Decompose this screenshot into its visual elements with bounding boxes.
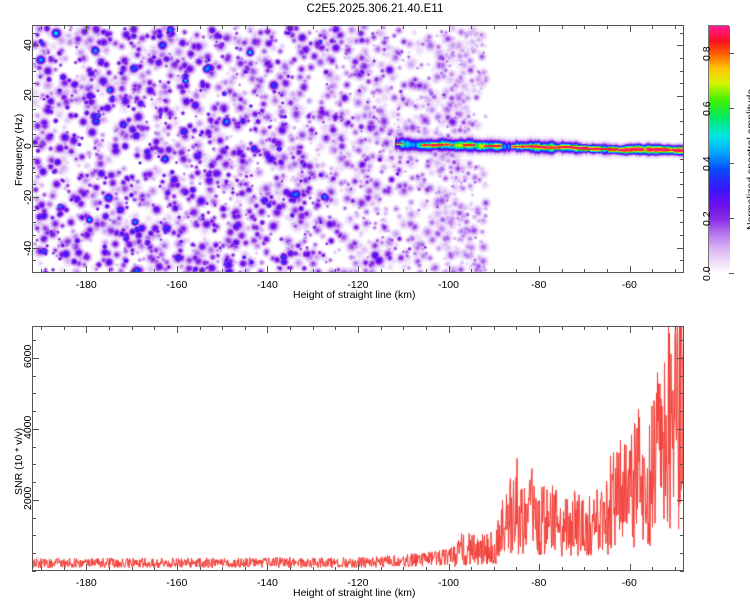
xtick-minor-top (245, 25, 246, 29)
ytick-minor (32, 571, 36, 572)
xtick-label: -140 (257, 577, 278, 589)
snr-canvas (33, 327, 684, 571)
xtick-minor (471, 269, 472, 273)
xtick-label: -160 (166, 279, 187, 291)
xtick-major-top (267, 326, 268, 333)
ytick-minor (32, 411, 36, 412)
ytick-minor-right (680, 411, 684, 412)
colorbar-tick-label: 0.4 (701, 156, 713, 171)
xtick-minor (313, 567, 314, 571)
xtick-minor (426, 567, 427, 571)
ytick-major-right (677, 45, 684, 46)
xtick-minor (222, 269, 223, 273)
xtick-minor (584, 567, 585, 571)
xtick-minor-top (426, 326, 427, 330)
xtick-minor (652, 567, 653, 571)
xtick-minor (132, 567, 133, 571)
colorbar (708, 25, 729, 273)
colorbar-gradient (709, 26, 730, 274)
xtick-major-top (267, 25, 268, 32)
xtick-major (177, 564, 178, 571)
xtick-minor-top (381, 25, 382, 29)
colorbar-tick (729, 273, 734, 274)
ytick-minor (32, 222, 36, 223)
ytick-major-right (677, 429, 684, 430)
ytick-minor (32, 109, 36, 110)
figure-title: C2E5.2025.306.21.40.E11 (0, 3, 750, 15)
colorbar-tick (729, 218, 734, 219)
snr-xlabel: Height of straight line (km) (293, 587, 416, 599)
xtick-minor-top (64, 326, 65, 330)
ytick-minor-right (680, 172, 684, 173)
xtick-minor (562, 567, 563, 571)
ytick-label: 20 (22, 89, 34, 101)
xtick-major (267, 564, 268, 571)
xtick-minor (290, 269, 291, 273)
ytick-minor (32, 121, 36, 122)
ytick-minor (32, 159, 36, 160)
xtick-minor-top (154, 25, 155, 29)
ytick-minor (32, 172, 36, 173)
xtick-major-top (86, 326, 87, 333)
spectrogram-xlabel: Height of straight line (km) (293, 289, 416, 301)
xtick-minor (132, 269, 133, 273)
xtick-major-top (86, 25, 87, 32)
ytick-label: 40 (22, 39, 34, 51)
xtick-minor (516, 567, 517, 571)
spectrogram-panel (32, 25, 684, 273)
ytick-major-right (677, 146, 684, 147)
xtick-minor-top (675, 25, 676, 29)
xtick-minor (335, 269, 336, 273)
ytick-minor-right (680, 210, 684, 211)
xtick-minor (562, 269, 563, 273)
ytick-minor-right (680, 571, 684, 572)
xtick-minor-top (403, 326, 404, 330)
ytick-minor-right (680, 33, 684, 34)
figure-root: C2E5.2025.306.21.40.E11 -180-160-140-120… (0, 0, 750, 600)
colorbar-tick (729, 108, 734, 109)
xtick-minor (64, 567, 65, 571)
ytick-minor (32, 71, 36, 72)
xtick-minor-top (335, 326, 336, 330)
xtick-minor (675, 567, 676, 571)
ytick-minor (32, 184, 36, 185)
colorbar-tick-label: 0.8 (701, 46, 713, 61)
xtick-minor (335, 567, 336, 571)
xtick-major (267, 266, 268, 273)
xtick-minor-top (516, 326, 517, 330)
xtick-major (630, 266, 631, 273)
xtick-label: -180 (76, 279, 97, 291)
xtick-minor-top (652, 25, 653, 29)
xtick-major-top (539, 326, 540, 333)
xtick-minor-top (494, 25, 495, 29)
xtick-minor (154, 269, 155, 273)
ytick-minor (32, 260, 36, 261)
xtick-minor-top (200, 25, 201, 29)
xtick-minor (471, 567, 472, 571)
xtick-minor (403, 567, 404, 571)
xtick-minor (200, 269, 201, 273)
xtick-minor-top (41, 326, 42, 330)
ytick-minor (32, 33, 36, 34)
xtick-minor-top (426, 25, 427, 29)
ytick-minor (32, 210, 36, 211)
ytick-minor (32, 58, 36, 59)
xtick-major (358, 564, 359, 571)
xtick-major-top (358, 25, 359, 32)
xtick-label: -100 (438, 577, 459, 589)
xtick-minor-top (132, 25, 133, 29)
xtick-major (539, 266, 540, 273)
spectrogram-ylabel: Frequency (Hz) (13, 114, 25, 186)
xtick-minor-top (335, 25, 336, 29)
ytick-minor (32, 134, 36, 135)
xtick-minor-top (607, 326, 608, 330)
xtick-major (449, 564, 450, 571)
ytick-minor-right (680, 447, 684, 448)
xtick-minor-top (245, 326, 246, 330)
ytick-minor-right (680, 134, 684, 135)
ytick-minor-right (680, 121, 684, 122)
xtick-minor-top (584, 25, 585, 29)
ytick-minor (32, 464, 36, 465)
xtick-minor (109, 567, 110, 571)
xtick-major (177, 266, 178, 273)
xtick-major (86, 564, 87, 571)
colorbar-tick-label: 0.0 (701, 266, 713, 281)
ytick-minor (32, 553, 36, 554)
xtick-major (539, 564, 540, 571)
xtick-label: -100 (438, 279, 459, 291)
xtick-minor-top (200, 326, 201, 330)
xtick-major-top (358, 326, 359, 333)
xtick-major (86, 266, 87, 273)
ytick-minor-right (680, 235, 684, 236)
ytick-label: -20 (22, 190, 34, 205)
xtick-minor-top (516, 25, 517, 29)
snr-ylabel: SNR (10 * v/v) (13, 428, 25, 495)
ytick-minor-right (680, 83, 684, 84)
xtick-minor-top (109, 25, 110, 29)
xtick-minor (290, 567, 291, 571)
xtick-major (449, 266, 450, 273)
ytick-minor (32, 235, 36, 236)
xtick-minor (494, 567, 495, 571)
xtick-minor-top (290, 326, 291, 330)
xtick-label: -140 (257, 279, 278, 291)
xtick-minor-top (222, 326, 223, 330)
colorbar-label: Normalized spectral amplitude (745, 89, 750, 230)
ytick-minor (32, 535, 36, 536)
xtick-major-top (630, 25, 631, 32)
xtick-minor-top (222, 25, 223, 29)
ytick-minor-right (680, 58, 684, 59)
ytick-major-right (677, 358, 684, 359)
xtick-minor (607, 567, 608, 571)
ytick-minor-right (680, 159, 684, 160)
xtick-label: -80 (531, 279, 546, 291)
xtick-minor (41, 567, 42, 571)
ytick-minor-right (680, 71, 684, 72)
ytick-minor-right (680, 518, 684, 519)
xtick-major (630, 564, 631, 571)
ytick-minor-right (680, 376, 684, 377)
ytick-minor-right (680, 260, 684, 261)
xtick-minor-top (675, 326, 676, 330)
xtick-minor (109, 269, 110, 273)
xtick-minor (245, 567, 246, 571)
ytick-minor-right (680, 535, 684, 536)
xtick-major-top (177, 326, 178, 333)
xtick-minor (222, 567, 223, 571)
ytick-minor (32, 340, 36, 341)
ytick-minor (32, 393, 36, 394)
ytick-minor-right (680, 109, 684, 110)
xtick-minor-top (652, 326, 653, 330)
xtick-major-top (539, 25, 540, 32)
ytick-minor (32, 482, 36, 483)
ytick-minor (32, 518, 36, 519)
ytick-minor-right (680, 553, 684, 554)
ytick-minor (32, 376, 36, 377)
ytick-major-right (677, 248, 684, 249)
xtick-label: -160 (166, 577, 187, 589)
xtick-label: -60 (622, 279, 637, 291)
xtick-minor (245, 269, 246, 273)
xtick-major-top (449, 326, 450, 333)
xtick-major (358, 266, 359, 273)
ytick-label: -40 (22, 240, 34, 255)
xtick-minor-top (471, 25, 472, 29)
xtick-minor (381, 567, 382, 571)
xtick-minor (494, 269, 495, 273)
xtick-minor (403, 269, 404, 273)
xtick-major-top (177, 25, 178, 32)
xtick-minor-top (64, 25, 65, 29)
colorbar-tick-label: 0.6 (701, 101, 713, 116)
xtick-label: -80 (531, 577, 546, 589)
xtick-minor-top (607, 25, 608, 29)
xtick-minor (652, 269, 653, 273)
xtick-minor (426, 269, 427, 273)
ytick-major-right (677, 500, 684, 501)
colorbar-tick-label: 0.2 (701, 211, 713, 226)
xtick-minor-top (154, 326, 155, 330)
xtick-label: -60 (622, 577, 637, 589)
xtick-minor (200, 567, 201, 571)
xtick-minor-top (562, 25, 563, 29)
ytick-minor (32, 83, 36, 84)
ytick-label: 6000 (22, 345, 34, 368)
xtick-minor-top (41, 25, 42, 29)
ytick-minor-right (680, 464, 684, 465)
xtick-minor (584, 269, 585, 273)
xtick-minor-top (109, 326, 110, 330)
xtick-major-top (449, 25, 450, 32)
colorbar-tick (729, 163, 734, 164)
xtick-minor (41, 269, 42, 273)
xtick-minor-top (313, 326, 314, 330)
ytick-major-right (677, 197, 684, 198)
xtick-minor (64, 269, 65, 273)
xtick-minor-top (403, 25, 404, 29)
ytick-minor (32, 447, 36, 448)
xtick-minor (154, 567, 155, 571)
xtick-minor-top (381, 326, 382, 330)
snr-panel (32, 326, 684, 571)
xtick-minor-top (290, 25, 291, 29)
ytick-minor-right (680, 393, 684, 394)
xtick-minor-top (132, 326, 133, 330)
xtick-minor (516, 269, 517, 273)
xtick-minor-top (562, 326, 563, 330)
ytick-major-right (677, 96, 684, 97)
xtick-minor (313, 269, 314, 273)
ytick-minor-right (680, 222, 684, 223)
ytick-minor-right (680, 340, 684, 341)
colorbar-tick (729, 53, 734, 54)
ytick-minor-right (680, 184, 684, 185)
xtick-minor (675, 269, 676, 273)
xtick-minor-top (471, 326, 472, 330)
xtick-major-top (630, 326, 631, 333)
ytick-minor-right (680, 482, 684, 483)
spectrogram-canvas (33, 26, 684, 273)
xtick-minor (381, 269, 382, 273)
xtick-label: -180 (76, 577, 97, 589)
xtick-minor (607, 269, 608, 273)
xtick-minor-top (313, 25, 314, 29)
xtick-minor-top (584, 326, 585, 330)
xtick-minor-top (494, 326, 495, 330)
